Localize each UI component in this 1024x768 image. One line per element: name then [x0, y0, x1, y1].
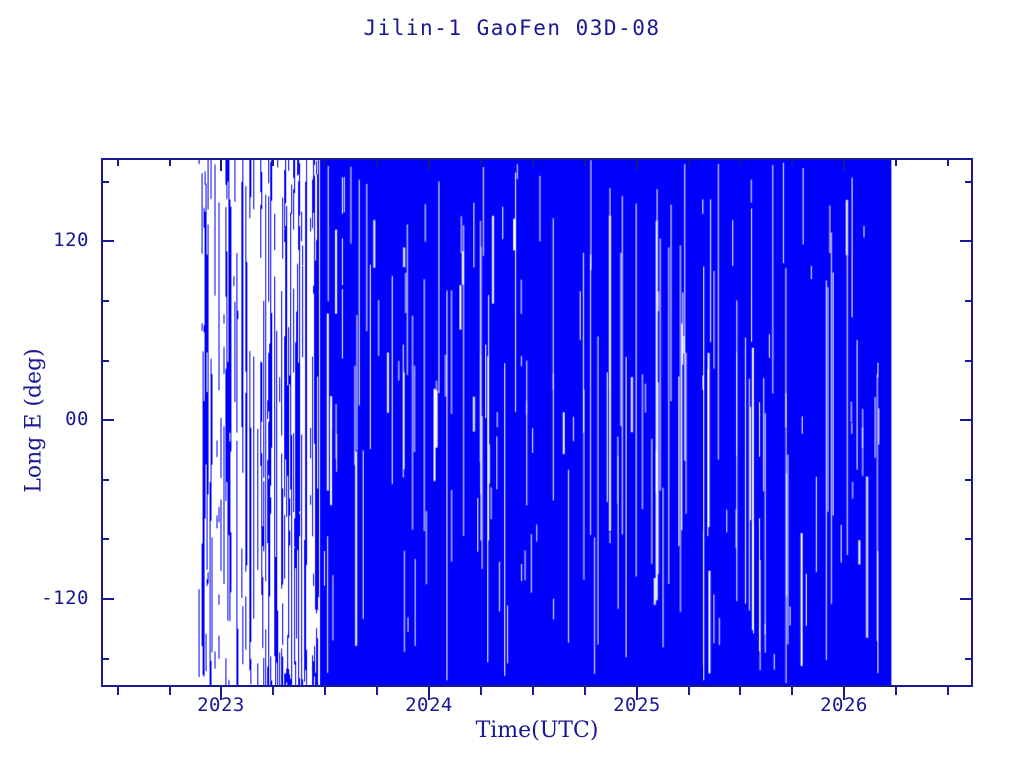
y-tick-minor-right: [965, 658, 973, 660]
x-tick-minor: [324, 687, 326, 695]
y-tick-minor: [101, 658, 109, 660]
x-tick-minor: [688, 687, 690, 695]
x-tick-minor: [480, 687, 482, 695]
x-tick-minor-top: [117, 158, 119, 166]
chart-title: Jilin-1 GaoFen 03D-08: [0, 16, 1024, 40]
x-tick-major-top: [220, 158, 222, 171]
longitude-vs-time-series: [103, 160, 971, 685]
x-tick-minor: [739, 687, 741, 695]
y-tick-minor-right: [965, 538, 973, 540]
y-tick-label-text: 120: [53, 229, 89, 251]
x-tick-label: 2024: [359, 694, 499, 716]
y-tick-major: [101, 598, 114, 600]
y-tick-major: [101, 419, 114, 421]
plot-area: [101, 158, 973, 687]
x-tick-minor: [272, 687, 274, 695]
x-tick-minor: [376, 687, 378, 695]
x-tick-minor-top: [376, 158, 378, 166]
x-tick-minor-top: [688, 158, 690, 166]
x-tick-label: 2025: [567, 694, 707, 716]
x-tick-minor-top: [739, 158, 741, 166]
y-tick-minor-right: [965, 181, 973, 183]
y-tick-major-right: [960, 419, 973, 421]
x-tick-minor: [584, 687, 586, 695]
x-tick-minor: [532, 687, 534, 695]
y-tick-minor-right: [965, 479, 973, 481]
x-tick-minor: [169, 687, 171, 695]
y-tick-major: [101, 240, 114, 242]
x-tick-label: 2026: [774, 694, 914, 716]
x-tick-major-top: [428, 158, 430, 171]
x-tick-minor-top: [272, 158, 274, 166]
x-tick-minor-top: [532, 158, 534, 166]
y-tick-minor: [101, 479, 109, 481]
y-tick-minor: [101, 538, 109, 540]
y-tick-minor-right: [965, 360, 973, 362]
y-tick-minor-right: [965, 300, 973, 302]
y-tick-minor: [101, 360, 109, 362]
y-tick-major-right: [960, 598, 973, 600]
x-tick-minor-top: [169, 158, 171, 166]
x-tick-minor: [117, 687, 119, 695]
y-tick-label-text: 00: [65, 408, 89, 430]
y-tick-minor: [101, 181, 109, 183]
x-axis-title: Time(UTC): [101, 718, 973, 743]
x-tick-minor-top: [324, 158, 326, 166]
x-tick-major-top: [843, 158, 845, 171]
x-tick-minor: [895, 687, 897, 695]
x-tick-minor-top: [480, 158, 482, 166]
x-tick-minor-top: [584, 158, 586, 166]
x-tick-minor-top: [947, 158, 949, 166]
y-axis-title: Long E (deg): [22, 291, 47, 551]
x-tick-minor: [791, 687, 793, 695]
x-tick-label: 2023: [151, 694, 291, 716]
y-tick-label-text: -120: [41, 587, 89, 609]
x-tick-minor-top: [895, 158, 897, 166]
x-tick-minor: [947, 687, 949, 695]
y-tick-major-right: [960, 240, 973, 242]
y-tick-minor: [101, 300, 109, 302]
x-tick-major-top: [636, 158, 638, 171]
x-tick-minor-top: [791, 158, 793, 166]
